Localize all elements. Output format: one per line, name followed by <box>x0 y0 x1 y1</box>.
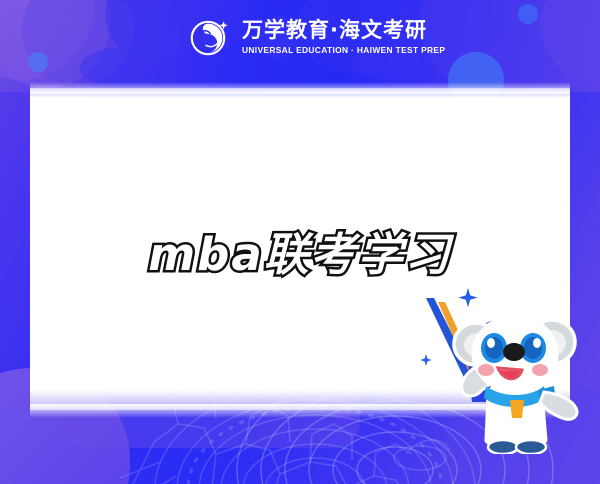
mascot-shoe-left <box>488 440 518 454</box>
brand-logo[interactable]: 万学教育·海文考研 UNIVERSAL EDUCATION · HAIWEN T… <box>186 14 445 60</box>
brand-logo-text: 万学教育·海文考研 UNIVERSAL EDUCATION · HAIWEN T… <box>242 18 445 56</box>
mascot-pendant <box>510 400 524 418</box>
sparkle-icon <box>420 354 432 366</box>
koala-mascot <box>420 282 600 454</box>
mascot-nose <box>503 343 525 361</box>
swirl-circle-logo-icon <box>186 14 232 60</box>
brand-name-cn: 万学教育·海文考研 <box>242 18 445 42</box>
mascot-cheek-right <box>532 364 548 376</box>
sparkle-icon <box>458 288 477 307</box>
decor-blob <box>28 52 48 72</box>
decor-blob <box>518 4 538 24</box>
mascot-right-arm <box>540 392 577 419</box>
mascot-cheek-left <box>478 364 494 376</box>
mascot-shoe-right <box>516 440 546 454</box>
page-title: mba联考学习 <box>0 218 600 283</box>
brand-name-en: UNIVERSAL EDUCATION · HAIWEN TEST PREP <box>242 44 445 56</box>
banner-stage: 万学教育·海文考研 UNIVERSAL EDUCATION · HAIWEN T… <box>0 0 600 484</box>
